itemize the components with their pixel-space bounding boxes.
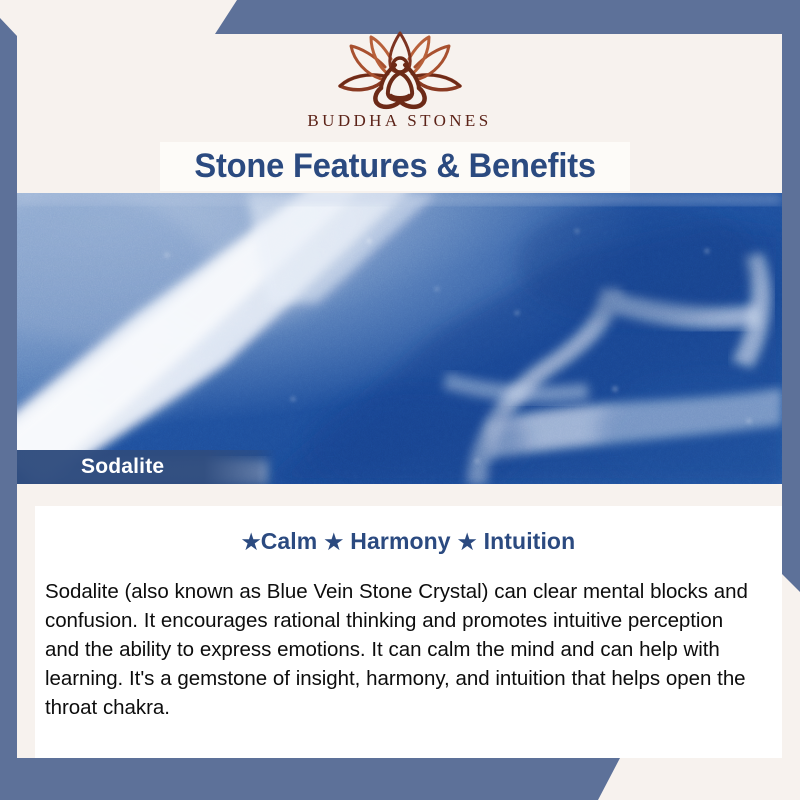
- gap-strip: [17, 484, 782, 506]
- star-icon: ★: [242, 531, 261, 554]
- keyword-list: ★Calm★Harmony★Intuition: [35, 506, 782, 555]
- decor-band-right: [782, 34, 800, 592]
- lotus-meditation-icon: [325, 30, 475, 108]
- stone-description: Sodalite (also known as Blue Vein Stone …: [35, 555, 782, 722]
- brand-name: BUDDHA STONES: [307, 111, 491, 131]
- stone-photo: [17, 193, 782, 484]
- infographic-page: BUDDHA STONES Stone Features & Benefits: [0, 0, 800, 800]
- stone-name: Sodalite: [81, 455, 164, 479]
- content-panel: ★Calm★Harmony★Intuition Sodalite (also k…: [35, 506, 782, 758]
- decor-band-top-right: [215, 0, 800, 34]
- brand-header: BUDDHA STONES: [17, 34, 782, 144]
- decor-band-bottom-left: [0, 758, 620, 800]
- keyword-calm: Calm: [261, 528, 318, 554]
- star-icon: ★: [458, 531, 477, 554]
- stone-name-bar: Sodalite: [17, 450, 277, 484]
- title-banner: Stone Features & Benefits: [160, 142, 630, 191]
- keyword-harmony: Harmony: [350, 528, 450, 554]
- keyword-intuition: Intuition: [484, 528, 576, 554]
- decor-band-left: [0, 18, 17, 758]
- page-title: Stone Features & Benefits: [194, 147, 595, 186]
- star-icon: ★: [324, 531, 343, 554]
